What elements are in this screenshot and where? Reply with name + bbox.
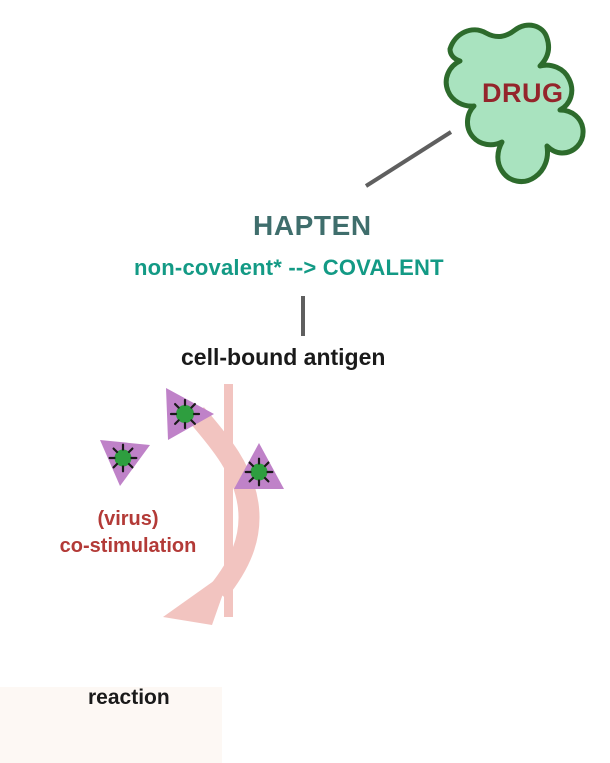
covalent-binding-label: non-covalent* --> COVALENT [134, 256, 444, 280]
cell-bound-antigen-label: cell-bound antigen [181, 345, 385, 370]
diagonal-line-connector [366, 132, 451, 186]
co-stimulation-line-1: (virus) [97, 508, 158, 530]
co-stimulation-annotation: (virus) co-stimulation [52, 506, 204, 560]
reaction-label: reaction [88, 686, 170, 709]
virus-triangle-icon [100, 440, 150, 486]
hapten-label: HAPTEN [253, 211, 372, 242]
co-stimulation-line-2: co-stimulation [52, 533, 204, 560]
shapes-layer [0, 0, 610, 763]
diagram-canvas: DRUG HAPTEN non-covalent* --> COVALENT c… [0, 0, 610, 763]
drug-label: DRUG [482, 79, 564, 109]
